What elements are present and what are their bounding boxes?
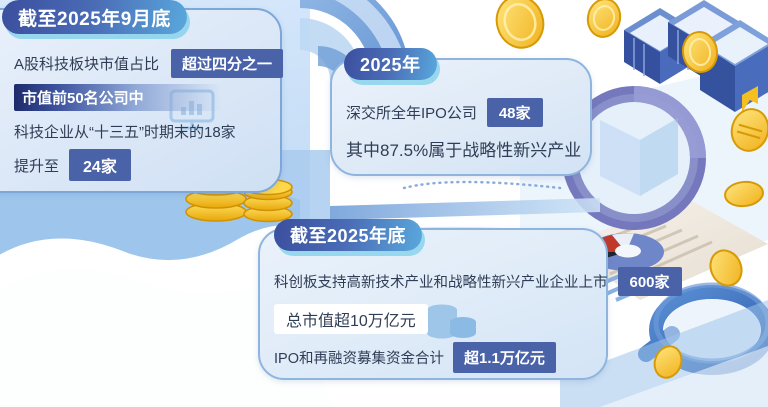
stat-label: 其中87.5%属于战略性新兴产业 [346,136,581,161]
card-title-pill: 2025年 [344,48,437,80]
stat-label: 科技企业从“十三五”时期末的18家 [14,121,236,142]
highlight-label: 市值前50名公司中 [14,84,222,111]
stat-badge: 48家 [487,98,543,127]
card-rows: 深交所全年IPO公司 48家 其中87.5%属于战略性新兴产业 [330,94,592,166]
stat-badge: 24家 [69,149,131,181]
stat-row: IPO和再融资募集资金合计 超1.1万亿元 [274,338,608,376]
stat-label: A股科技板块市值占比 [14,53,159,74]
stat-label: 深交所全年IPO公司 [346,102,477,123]
stat-row: A股科技板块市值占比 超过四分之一 [14,46,282,80]
card-2025: 2025年 深交所全年IPO公司 48家 其中87.5%属于战略性新兴产业 [330,58,592,176]
card-title-pill: 截至2025年9月底 [2,0,187,34]
stat-label: 提升至 [14,155,59,176]
card-title-pill: 截至2025年底 [274,219,422,251]
card-as-of-sep-2025: 截至2025年9月底 A股科技板块市值占比 超过四分之一 市值前50名公司中 科… [0,8,282,193]
stat-label: 科创板支持高新技术产业和战略性新兴产业企业上市 [274,271,608,292]
stat-row-highlight: 市值前50名公司中 [0,80,282,114]
infographic-canvas: 截至2025年9月底 A股科技板块市值占比 超过四分之一 市值前50名公司中 科… [0,0,768,407]
stat-row: 科技企业从“十三五”时期末的18家 [14,114,282,148]
card-rows: A股科技板块市值占比 超过四分之一 市值前50名公司中 科技企业从“十三五”时期… [0,46,282,182]
stat-row: 其中87.5%属于战略性新兴产业 [346,130,592,166]
stat-badge: 超过四分之一 [171,49,283,78]
stat-badge: 超1.1万亿元 [453,342,556,373]
stat-row-highlight: 总市值超10万亿元 [274,300,608,338]
card-as-of-end-2025: 截至2025年底 科创板支持高新技术产业和战略性新 [258,228,608,380]
stat-row: 科创板支持高新技术产业和战略性新兴产业企业上市 600家 [274,262,608,300]
card-rows: 科创板支持高新技术产业和战略性新兴产业企业上市 600家 总市值超10万亿元 I… [258,262,608,376]
highlight-label: 总市值超10万亿元 [274,304,428,334]
stat-label: IPO和再融资募集资金合计 [274,347,444,368]
stat-badge: 600家 [618,267,682,296]
stat-row: 深交所全年IPO公司 48家 [346,94,592,130]
stat-row: 提升至 24家 [14,148,282,182]
